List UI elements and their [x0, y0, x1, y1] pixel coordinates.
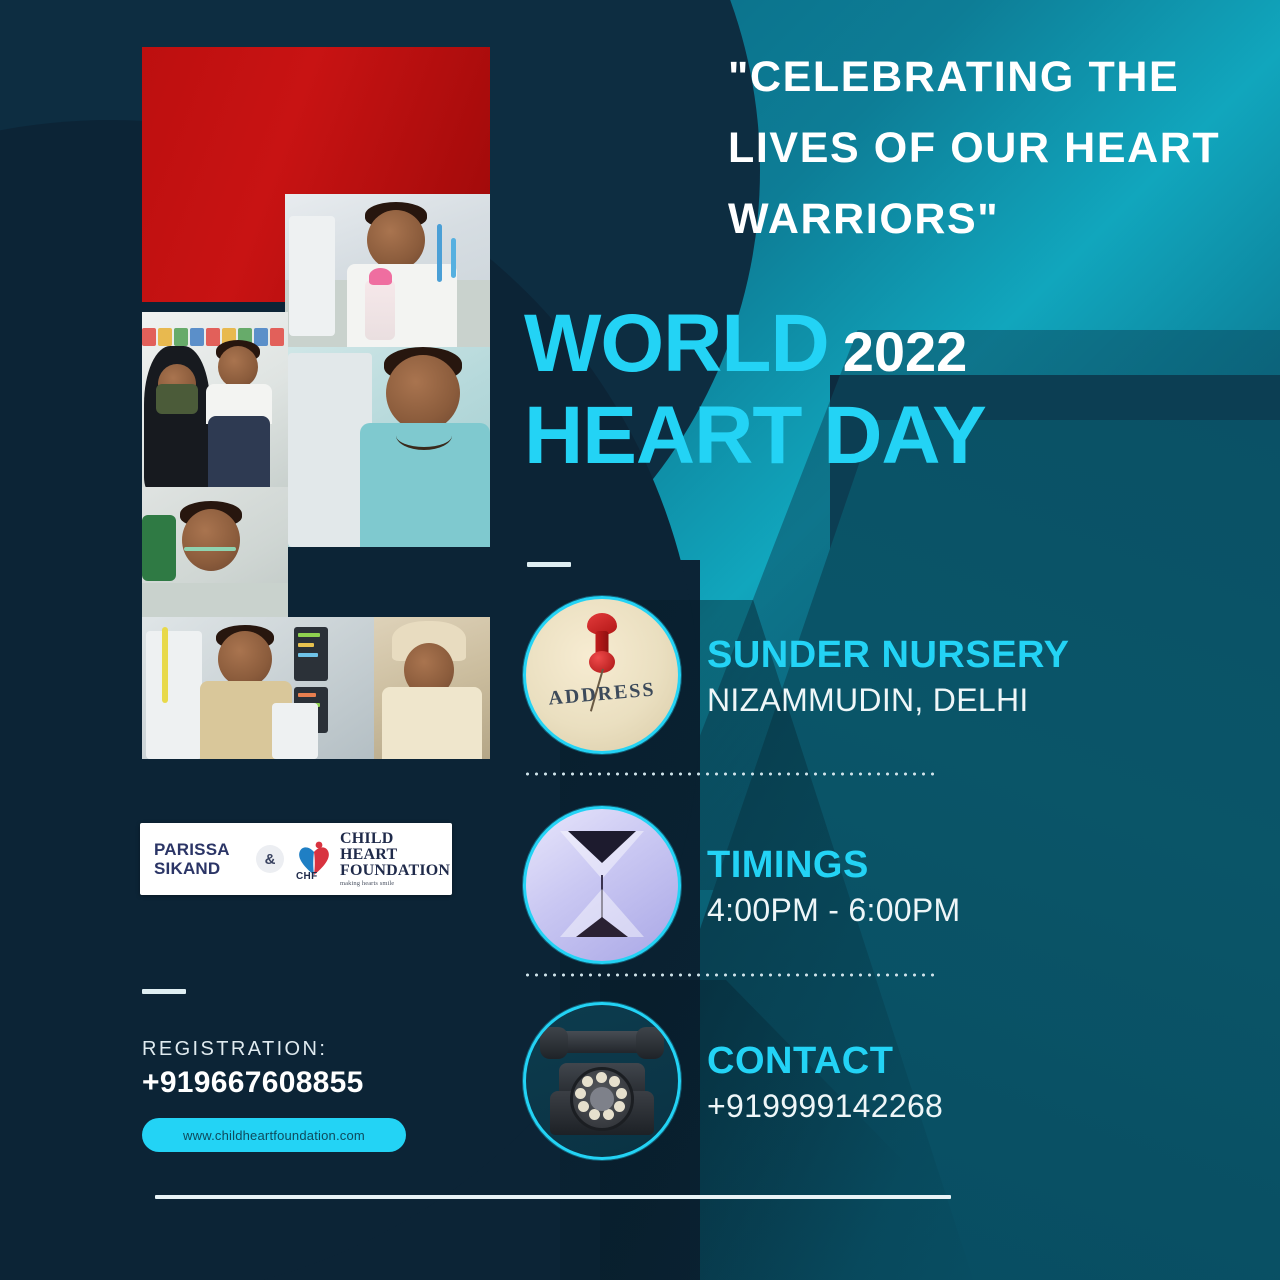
- contact-subtitle: +919999142268: [707, 1089, 943, 1124]
- telephone-earpiece-left: [540, 1027, 568, 1059]
- collage-photo-boy-khaki: [142, 617, 374, 759]
- bottom-divider-rule: [155, 1195, 951, 1199]
- chf-abbreviation: CHF: [296, 871, 317, 882]
- info-row-address: ADDRESS SUNDER NURSERY NIZAMMUDIN, DELHI: [523, 596, 1069, 754]
- website-button[interactable]: www.childheartfoundation.com: [142, 1118, 406, 1152]
- hourglass-bottom-sand: [576, 917, 628, 937]
- title-year: 2022: [843, 324, 968, 384]
- timings-subtitle: 4:00PM - 6:00PM: [707, 893, 961, 928]
- divider-dash-info: [527, 562, 571, 567]
- photo-collage: [142, 47, 490, 759]
- address-subtitle: NIZAMMUDIN, DELHI: [707, 683, 1069, 718]
- partner-parissa-sikand: PARISSA SIKAND: [140, 840, 256, 878]
- hourglass-top-sand: [568, 831, 636, 863]
- address-title: SUNDER NURSERY: [707, 636, 1069, 676]
- telephone-dial-center: [590, 1087, 614, 1111]
- heart-icon: CHF: [294, 839, 334, 879]
- registration-phone: +919667608855: [142, 1066, 364, 1100]
- chf-tagline: making hearts smile: [340, 881, 452, 888]
- divider-dash-registration: [142, 989, 186, 994]
- partner-logo-bar: PARISSA SIKAND & CHF CHILD HEART FOUNDAT…: [140, 823, 452, 895]
- headline-quote: "CELEBRATING THE LIVES OF OUR HEART WARR…: [728, 42, 1264, 255]
- info-row-contact: CONTACT +919999142268: [523, 1002, 943, 1160]
- hourglass-icon: [523, 806, 681, 964]
- chf-line-1: CHILD HEART: [340, 831, 452, 863]
- address-pin-icon: ADDRESS: [523, 596, 681, 754]
- address-icon-label: ADDRESS: [525, 676, 678, 712]
- address-text-block: SUNDER NURSERY NIZAMMUDIN, DELHI: [707, 632, 1069, 718]
- collage-photo-mother-child: [142, 312, 288, 492]
- collage-photo-man-turban: [374, 617, 490, 759]
- poster-root: "CELEBRATING THE LIVES OF OUR HEART WARR…: [0, 0, 1280, 1280]
- contact-text-block: CONTACT +919999142268: [707, 1038, 943, 1124]
- divider-dotted-2: [523, 973, 937, 977]
- contact-title: CONTACT: [707, 1042, 943, 1082]
- page-title: WORLD 2022 HEART DAY: [524, 305, 1144, 477]
- divider-dotted-1: [523, 772, 937, 776]
- partner-chf-logo: CHF CHILD HEART FOUNDATION making hearts…: [284, 831, 452, 888]
- collage-photo-grid: [142, 47, 490, 759]
- timings-text-block: TIMINGS 4:00PM - 6:00PM: [707, 842, 961, 928]
- chf-wordmark: CHILD HEART FOUNDATION making hearts smi…: [340, 831, 452, 888]
- telephone-earpiece-right: [636, 1027, 664, 1059]
- telephone-icon: [523, 1002, 681, 1160]
- collage-photo-boy-blue: [288, 347, 490, 547]
- title-line-1: WORLD 2022: [524, 305, 1144, 384]
- ampersand-badge: &: [256, 845, 284, 873]
- timings-title: TIMINGS: [707, 846, 961, 886]
- registration-label: REGISTRATION:: [142, 1038, 327, 1061]
- partner-name-line-1: PARISSA: [154, 840, 256, 859]
- title-heart-day: HEART DAY: [524, 394, 1144, 478]
- collage-photo-baby-bottle: [285, 194, 490, 359]
- info-row-timings: TIMINGS 4:00PM - 6:00PM: [523, 806, 961, 964]
- telephone-rotary-dial: [570, 1067, 634, 1131]
- chf-line-2: FOUNDATION: [340, 863, 452, 879]
- title-world: WORLD: [524, 305, 829, 384]
- partner-name-line-2: SIKAND: [154, 859, 256, 878]
